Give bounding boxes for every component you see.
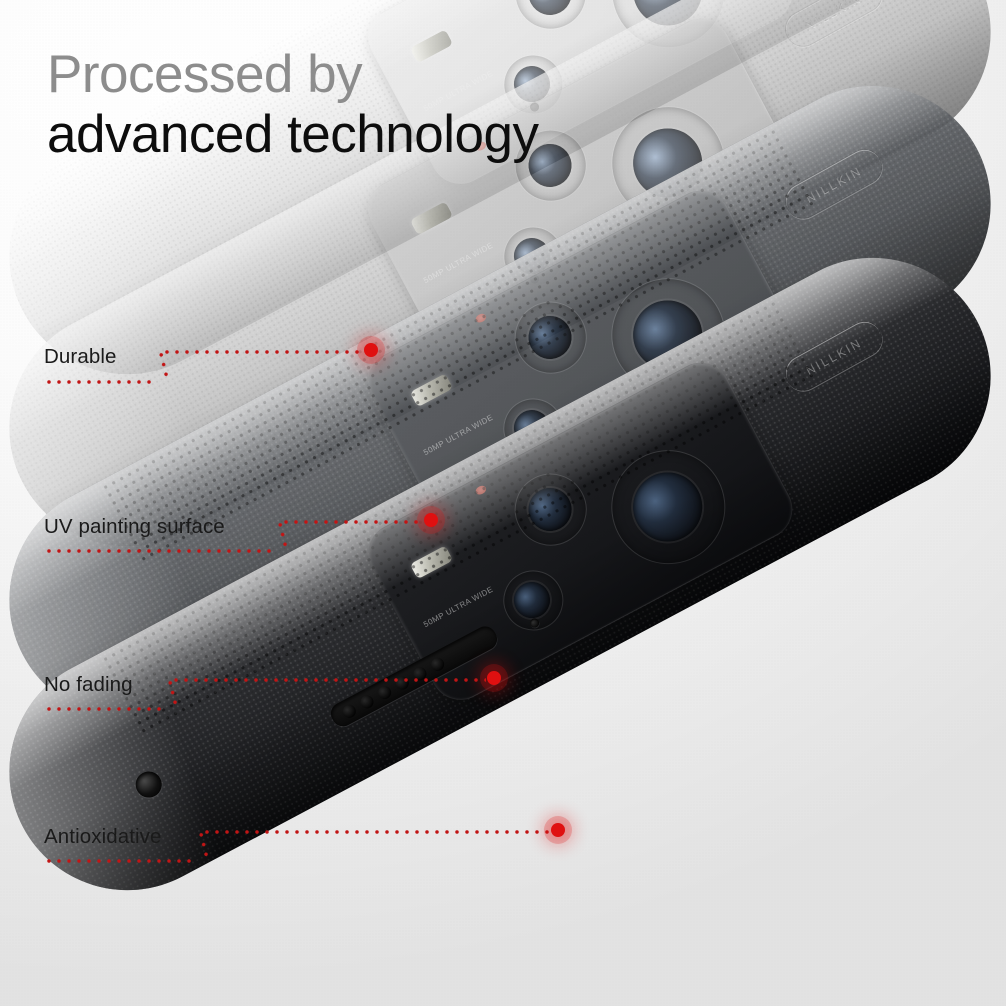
callout-riser-durable bbox=[158, 350, 170, 382]
callout-leader-antioxidative bbox=[202, 830, 550, 834]
callout-marker-antioxidative[interactable] bbox=[551, 823, 565, 837]
callout-riser-no-fading bbox=[167, 678, 178, 709]
callout-leader-durable bbox=[162, 350, 362, 354]
callout-riser-uv-painting-surface bbox=[277, 520, 288, 551]
callout-underline-durable bbox=[44, 380, 156, 384]
callout-label-no-fading: No fading bbox=[44, 673, 133, 697]
callout-marker-durable[interactable] bbox=[364, 343, 378, 357]
callout-label-durable: Durable bbox=[44, 345, 117, 369]
callout-leader-uv-painting-surface bbox=[281, 520, 423, 524]
callout-leader-no-fading bbox=[171, 678, 486, 682]
callout-label-uv-painting-surface: UV painting surface bbox=[44, 515, 225, 539]
feature-callouts: DurableUV painting surfaceNo fadingAntio… bbox=[0, 0, 1006, 1006]
callout-label-antioxidative: Antioxidative bbox=[44, 825, 162, 849]
callout-underline-no-fading bbox=[44, 707, 165, 711]
callout-riser-antioxidative bbox=[198, 830, 209, 861]
callout-underline-antioxidative bbox=[44, 859, 196, 863]
product-marketing-image: NILLKIN50MP ULTRA WIDENILLKIN50MP ULTRA … bbox=[0, 0, 1006, 1006]
callout-underline-uv-painting-surface bbox=[44, 549, 275, 553]
callout-marker-uv-painting-surface[interactable] bbox=[424, 513, 438, 527]
callout-marker-no-fading[interactable] bbox=[487, 671, 501, 685]
